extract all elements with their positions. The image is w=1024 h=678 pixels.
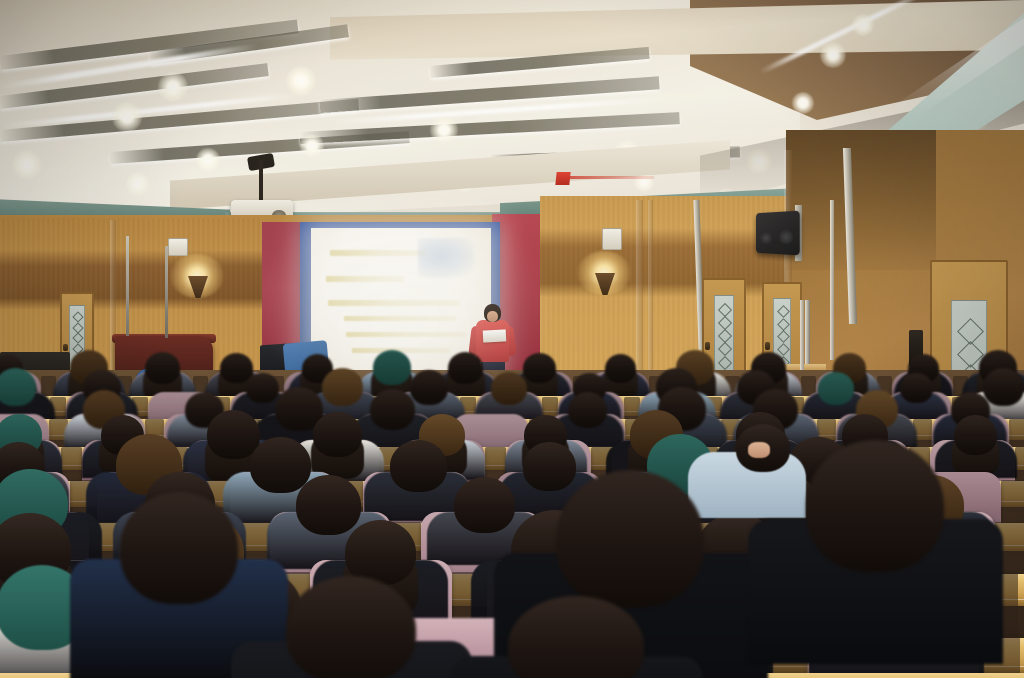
slide-text-line — [346, 332, 466, 337]
presenter-notes — [483, 329, 507, 342]
door-glass-diamond — [777, 305, 790, 318]
red-banner-remnant — [555, 172, 570, 185]
person-head — [373, 350, 411, 385]
door-glass-diamond — [718, 316, 732, 330]
slide-text-line — [328, 300, 460, 306]
door-glass-diamond — [72, 311, 83, 322]
foreground-student-black-hoodie-head — [556, 470, 704, 608]
ceiling-downlight-icon — [300, 134, 324, 158]
person-head — [207, 410, 260, 459]
ceiling-downlight-icon — [196, 148, 220, 172]
wall-vent — [168, 238, 188, 256]
person-head — [454, 477, 515, 533]
vertical-pole-right-2 — [830, 200, 834, 360]
presenter-face — [487, 311, 498, 322]
door-glass-diamond — [718, 302, 732, 316]
door-glass-diamond — [718, 342, 732, 356]
person-head — [523, 353, 556, 383]
person-head — [523, 442, 576, 491]
speaker-driver-1 — [760, 232, 772, 244]
person-head — [410, 370, 448, 405]
ceiling-downlight-icon — [112, 102, 142, 132]
slide-text-line — [330, 250, 426, 256]
person-head — [145, 352, 180, 384]
person-head — [568, 392, 607, 428]
door-far-left-handle — [63, 344, 68, 351]
person-head — [322, 368, 363, 406]
door-glass-diamond — [718, 355, 732, 369]
door-rear-right-1-glass — [714, 295, 734, 380]
wall-vent — [602, 228, 622, 250]
red-banner-tail — [570, 176, 654, 179]
person-head — [605, 354, 636, 383]
person-head — [296, 475, 361, 535]
ceiling-downlight-icon — [286, 66, 316, 96]
foreground-student-bottom-left-head — [286, 576, 416, 678]
ceiling-downlight-icon — [126, 172, 150, 196]
door-rear-right-2-handle — [765, 342, 770, 350]
speaker-driver-2 — [779, 230, 793, 244]
person-head — [0, 368, 36, 406]
foreground-student-right-head — [806, 440, 944, 572]
ceiling-downlight-icon — [158, 72, 188, 102]
person-head — [313, 412, 362, 457]
door-glass-diamond — [777, 330, 790, 343]
microphone-stand-1 — [165, 246, 168, 338]
lecture-hall-photograph — [0, 0, 1024, 678]
person-head — [818, 372, 854, 405]
wall-far-right-shadow — [786, 130, 936, 270]
slide-text-line — [326, 276, 404, 282]
ceiling-downlight-icon — [792, 92, 814, 114]
projector-mount-pole — [259, 160, 263, 204]
person-head — [390, 440, 447, 492]
person-head — [250, 437, 311, 493]
person-head — [370, 389, 415, 430]
person-head — [491, 372, 527, 405]
person-head — [954, 415, 997, 455]
microphone-stand-2 — [126, 236, 129, 336]
slide-text-line — [344, 316, 456, 321]
person-head — [246, 373, 279, 403]
person-head — [900, 373, 933, 403]
ceiling-downlight-icon — [12, 150, 42, 180]
person-head — [448, 352, 483, 384]
door-rear-right-1-handle — [705, 342, 710, 350]
ceiling-downlight-icon — [430, 116, 458, 144]
turned-student-face — [748, 442, 770, 458]
ceiling-downlight-icon — [852, 14, 874, 36]
foreground-student-navy-head — [120, 492, 238, 604]
ceiling-downlight-icon — [820, 42, 846, 68]
slide-graphic-image — [418, 238, 474, 278]
person-head — [983, 368, 1024, 406]
seat-gap — [1001, 480, 1024, 526]
